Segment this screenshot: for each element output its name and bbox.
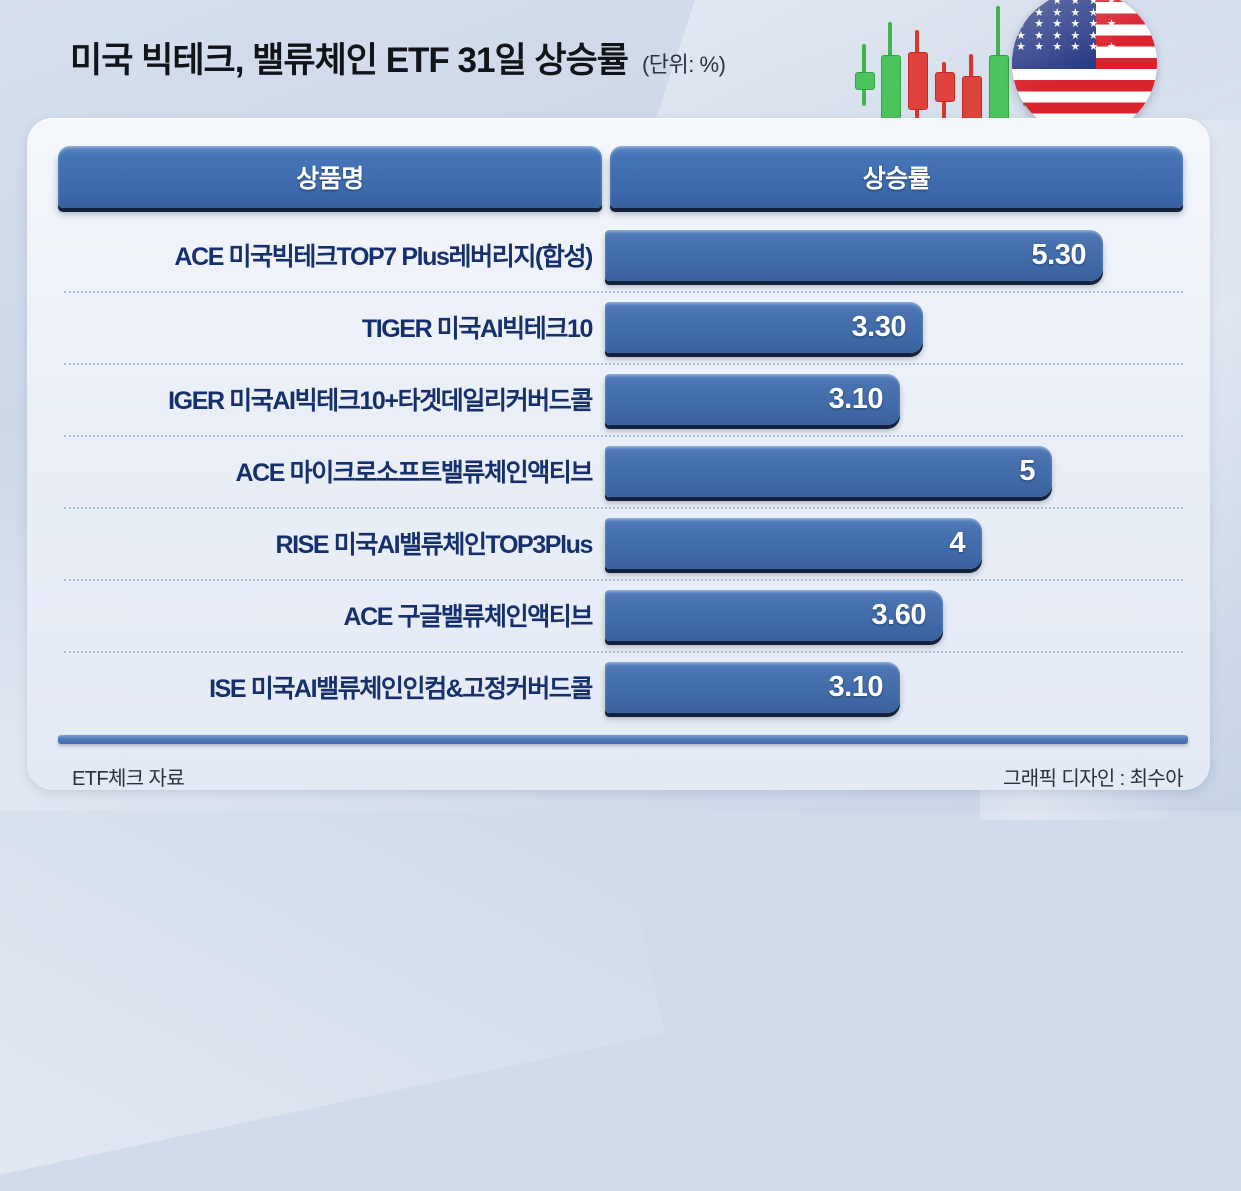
column-header-rate-label: 상승률 (863, 159, 931, 195)
table-row[interactable]: TIGER 미국AI빅테크103.30 (58, 291, 1183, 363)
candlestick-up-1 (855, 0, 873, 135)
chart-unit-label: (단위: %) (642, 47, 725, 79)
candle-body (855, 72, 875, 90)
bar-value-label: 4 (949, 527, 982, 560)
row-product-name: RISE 미국AI밸류체인TOP3Plus (58, 507, 598, 579)
candlestick-down-4 (935, 0, 953, 135)
bar-value-label: 5 (1019, 455, 1052, 488)
row-product-name: ACE 구글밸류체인액티브 (58, 579, 598, 651)
table-row[interactable]: ISE 미국AI밸류체인인컴&고정커버드콜3.10 (58, 651, 1183, 723)
table-row[interactable]: IGER 미국AI빅테크10+타겟데일리커버드콜3.10 (58, 363, 1183, 435)
chart-title-row: 미국 빅테크, 밸류체인 ETF 31일 상승률 (단위: %) (70, 32, 725, 83)
bar-track: 3.10 (605, 651, 1183, 723)
candlestick-up-2 (881, 0, 899, 135)
bar-track: 5 (605, 435, 1183, 507)
table-row[interactable]: ACE 미국빅테크TOP7 Plus레버리지(합성)5.30 (58, 219, 1183, 291)
table-body: ACE 미국빅테크TOP7 Plus레버리지(합성)5.30TIGER 미국AI… (58, 219, 1183, 723)
chart-title: 미국 빅테크, 밸류체인 ETF 31일 상승률 (70, 32, 628, 83)
column-header-product-name[interactable]: 상품명 (58, 146, 602, 208)
value-bar[interactable]: 5 (605, 446, 1052, 497)
footer-divider (58, 735, 1188, 744)
candlestick-up-6 (989, 0, 1007, 135)
table-row[interactable]: ACE 구글밸류체인액티브3.60 (58, 579, 1183, 651)
table-header-row: 상품명 상승률 (58, 146, 1183, 208)
candle-body (935, 72, 955, 102)
footer-credit: 그래픽 디자인 : 최수아 (1003, 762, 1183, 791)
bar-value-label: 3.60 (872, 599, 943, 632)
bar-track: 5.30 (605, 219, 1183, 291)
bar-value-label: 5.30 (1032, 239, 1103, 272)
row-product-name: ISE 미국AI밸류체인인컴&고정커버드콜 (58, 651, 598, 723)
bar-track: 3.30 (605, 291, 1183, 363)
candle-body (908, 52, 928, 110)
value-bar[interactable]: 5.30 (605, 230, 1103, 281)
table-row[interactable]: RISE 미국AI밸류체인TOP3Plus4 (58, 507, 1183, 579)
candlestick-down-3 (908, 0, 926, 135)
value-bar[interactable]: 3.30 (605, 302, 923, 353)
row-product-name: IGER 미국AI빅테크10+타겟데일리커버드콜 (58, 363, 598, 435)
footer-source: ETF체크 자료 (72, 762, 184, 791)
bar-value-label: 3.30 (852, 311, 923, 344)
bar-value-label: 3.10 (829, 383, 900, 416)
column-header-rate[interactable]: 상승률 (610, 146, 1183, 208)
value-bar[interactable]: 3.10 (605, 374, 900, 425)
row-product-name: TIGER 미국AI빅테크10 (58, 291, 598, 363)
column-header-product-name-label: 상품명 (296, 159, 364, 195)
bar-track: 3.60 (605, 579, 1183, 651)
table-row[interactable]: ACE 마이크로소프트밸류체인액티브5 (58, 435, 1183, 507)
bar-track: 3.10 (605, 363, 1183, 435)
row-product-name: ACE 미국빅테크TOP7 Plus레버리지(합성) (58, 219, 598, 291)
value-bar[interactable]: 3.10 (605, 662, 900, 713)
us-flag-circle-icon: ★ ★ ★ ★ ★ ★★ ★ ★ ★ ★★ ★ ★ ★ ★ ★★ ★ ★ ★ ★… (1012, 0, 1157, 136)
bar-value-label: 3.10 (829, 671, 900, 704)
row-product-name: ACE 마이크로소프트밸류체인액티브 (58, 435, 598, 507)
value-bar[interactable]: 3.60 (605, 590, 943, 641)
bar-track: 4 (605, 507, 1183, 579)
candle-body (881, 55, 901, 119)
value-bar[interactable]: 4 (605, 518, 982, 569)
candlestick-down-5 (962, 0, 980, 135)
